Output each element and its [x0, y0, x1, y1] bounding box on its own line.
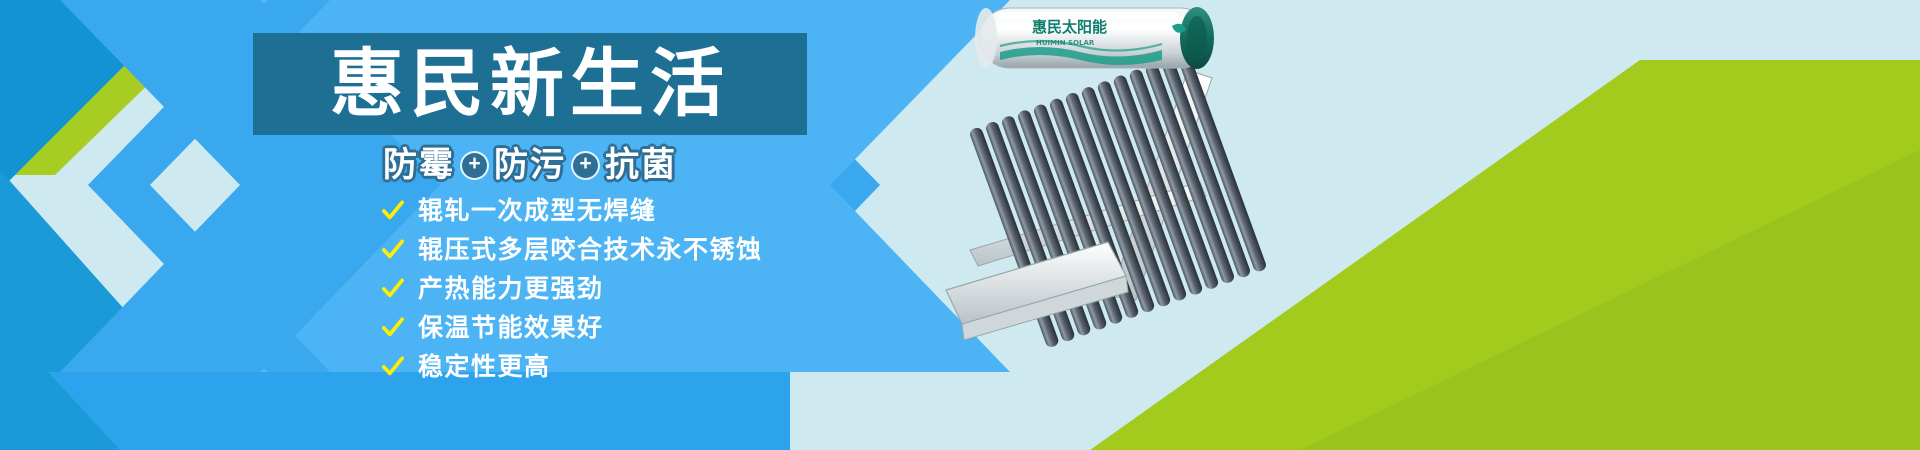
bg-blue-bottom	[0, 372, 790, 450]
product-brand-text: 惠民太阳能	[1032, 18, 1107, 36]
subtitle-part-2: 防污	[494, 148, 566, 182]
promo-banner: 惠民新生活 防霉 + 防污 + 抗菌 辊轧一次成型无焊缝 辊压式多层咬合技术永不…	[0, 0, 1920, 450]
feature-label: 辊压式多层咬合技术永不锈蚀	[418, 237, 763, 262]
subtitle-row: 防霉 + 防污 + 抗菌	[253, 143, 807, 187]
feature-item: 辊压式多层咬合技术永不锈蚀	[382, 233, 763, 266]
check-icon	[382, 317, 404, 339]
subtitle-part-1: 防霉	[383, 148, 455, 182]
feature-label: 产热能力更强劲	[418, 276, 604, 301]
feature-item: 产热能力更强劲	[382, 272, 763, 305]
check-icon	[382, 356, 404, 378]
feature-label: 保温节能效果好	[418, 315, 604, 340]
feature-label: 稳定性更高	[418, 354, 551, 379]
plus-glyph-1: +	[468, 153, 480, 174]
plus-glyph-2: +	[579, 153, 591, 174]
check-icon	[382, 200, 404, 222]
feature-item: 保温节能效果好	[382, 311, 763, 344]
check-icon	[382, 278, 404, 300]
plus-badge-icon: +	[573, 153, 598, 178]
product-brand-sub: HUIMIN SOLAR	[1036, 39, 1095, 47]
title-box: 惠民新生活	[253, 33, 807, 135]
feature-list: 辊轧一次成型无焊缝 辊压式多层咬合技术永不锈蚀 产热能力更强劲 保温节能效果好	[382, 194, 763, 383]
feature-item: 辊轧一次成型无焊缝	[382, 194, 763, 227]
subtitle-part-3: 抗菌	[605, 148, 677, 182]
banner-title: 惠民新生活	[330, 47, 730, 121]
feature-item: 稳定性更高	[382, 350, 763, 383]
product-image: 惠民太阳能 HUIMIN SOLAR	[940, 0, 1280, 350]
tank-highlight	[998, 12, 1178, 19]
check-icon	[382, 239, 404, 261]
feature-label: 辊轧一次成型无焊缝	[418, 198, 657, 223]
plus-badge-icon: +	[462, 153, 487, 178]
